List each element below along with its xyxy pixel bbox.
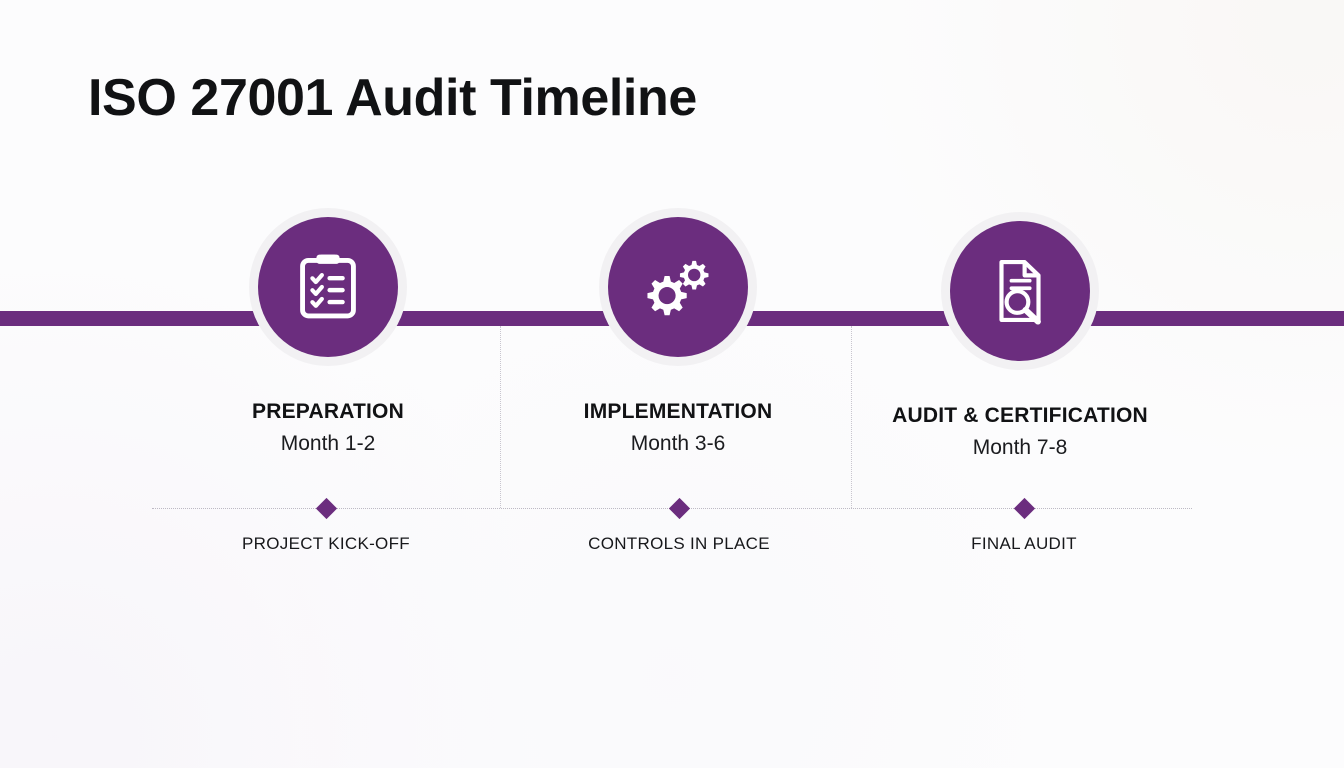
milestone-label: CONTROLS IN PLACE xyxy=(529,534,829,554)
diamond-marker-icon xyxy=(668,497,689,518)
milestone-final-audit[interactable]: FINAL AUDIT xyxy=(874,508,1174,554)
document-magnifier-icon xyxy=(983,254,1057,328)
clipboard-checklist-icon xyxy=(291,250,365,324)
milestone-label: FINAL AUDIT xyxy=(874,534,1174,554)
milestone-controls-in-place[interactable]: CONTROLS IN PLACE xyxy=(529,508,829,554)
timeline-stage-preparation[interactable]: PREPARATION Month 1-2 xyxy=(188,217,468,456)
stage-name-implementation: IMPLEMENTATION xyxy=(538,400,818,424)
diamond-marker-icon xyxy=(315,497,336,518)
stage-name-audit-certification: AUDIT & CERTIFICATION xyxy=(880,404,1160,428)
phase-divider-1 xyxy=(500,326,501,508)
stage-name-preparation: PREPARATION xyxy=(188,400,468,424)
phase-divider-2 xyxy=(851,326,852,508)
stage-period-implementation: Month 3-6 xyxy=(538,432,818,456)
stage-period-preparation: Month 1-2 xyxy=(188,432,468,456)
stage-period-audit-certification: Month 7-8 xyxy=(880,436,1160,460)
diamond-marker-icon xyxy=(1013,497,1034,518)
milestone-label: PROJECT KICK-OFF xyxy=(176,534,476,554)
gears-icon xyxy=(639,248,717,326)
stage-icon-circle-preparation xyxy=(258,217,398,357)
timeline-stage-audit-certification[interactable]: AUDIT & CERTIFICATION Month 7-8 xyxy=(880,221,1160,460)
page-title: ISO 27001 Audit Timeline xyxy=(88,68,697,128)
stage-icon-circle-implementation xyxy=(608,217,748,357)
milestone-project-kick-off[interactable]: PROJECT KICK-OFF xyxy=(176,508,476,554)
stage-icon-circle-audit-certification xyxy=(950,221,1090,361)
timeline-stage-implementation[interactable]: IMPLEMENTATION Month 3-6 xyxy=(538,217,818,456)
